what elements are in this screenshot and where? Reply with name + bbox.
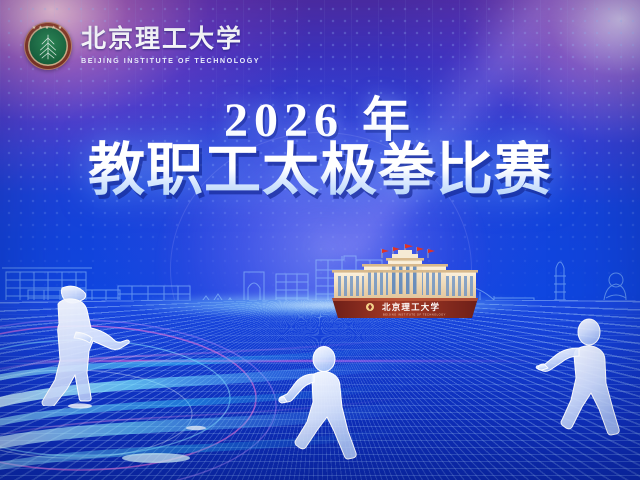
great-hall-building-illustration: 北京理工大学 BEIJING INSTITUTE OF TECHNOLOGY xyxy=(330,244,480,320)
logo-cn-name: 北京理工大学 xyxy=(81,27,260,53)
bit-emblem-icon xyxy=(366,303,374,311)
building-plaque-cn: 北京理工大学 xyxy=(382,302,440,312)
logo-text-block: 北京理工大学 BEIJING INSTITUTE OF TECHNOLOGY xyxy=(81,27,260,65)
perspective-ground-plane xyxy=(0,300,640,480)
ground-horizontal-lines xyxy=(0,300,640,480)
bit-pine-tree-emblem-icon: ★★★★★ xyxy=(24,22,72,70)
poster-canvas: 北京理工大学 BEIJING INSTITUTE OF TECHNOLOGY xyxy=(0,0,640,480)
pine-tree-icon xyxy=(37,33,59,61)
title-main: 教职工太极拳比赛 xyxy=(0,140,640,202)
university-logo: ★★★★★ 北京理工大学 BEIJING INSTITUTE OF TECHNO… xyxy=(24,22,260,70)
emblem-stars: ★★★★★ xyxy=(24,25,72,31)
logo-en-name: BEIJING INSTITUTE OF TECHNOLOGY xyxy=(81,56,260,65)
building-plaque-en: BEIJING INSTITUTE OF TECHNOLOGY xyxy=(383,313,446,317)
